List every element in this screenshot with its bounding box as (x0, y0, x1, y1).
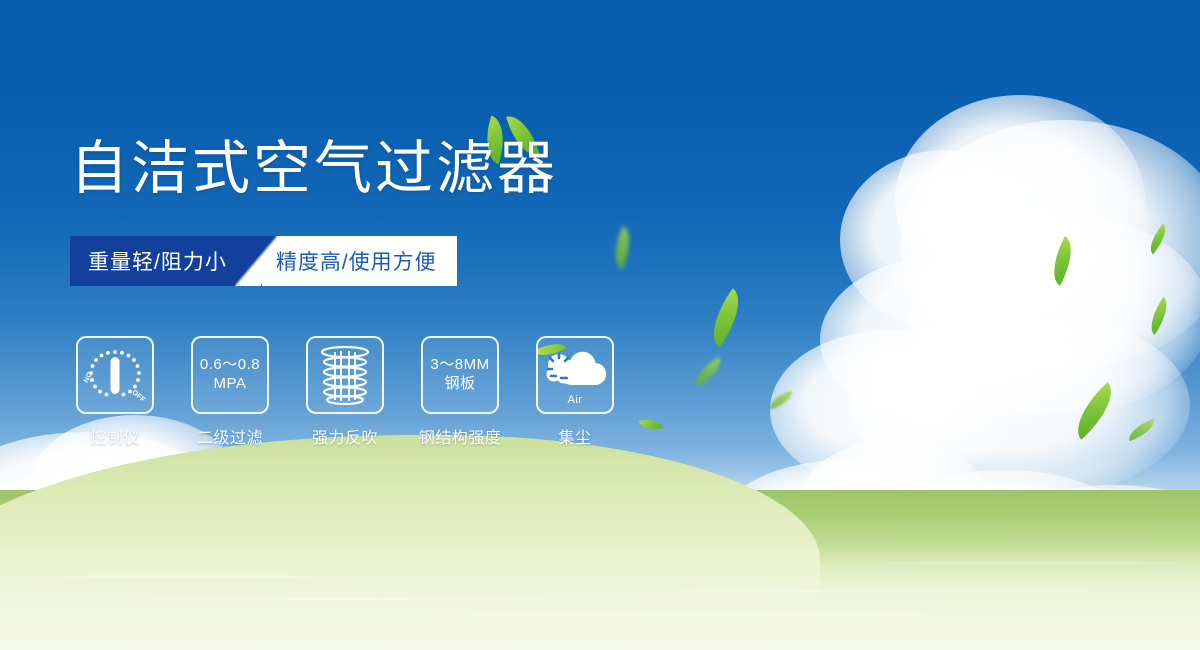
leaf-icon (639, 416, 663, 434)
cloud-shape (850, 310, 1190, 500)
tagline-left: 重量轻/阻力小 (70, 236, 253, 286)
leaf-icon (689, 357, 727, 387)
air-label: Air (543, 394, 607, 406)
feature-label: 钢结构强度 (419, 424, 502, 448)
feature-label: 强力反吹 (312, 424, 378, 448)
feature-label: 二级过滤 (197, 424, 263, 448)
cloud-shape (820, 255, 1080, 425)
gauge-switch-icon: NO OFF (82, 344, 148, 406)
cloud-shape (900, 120, 1200, 370)
grass-field (0, 490, 1200, 650)
feature-label: 控制仪 (90, 424, 140, 448)
steel-plate-icon: 3～8MM 钢板 (430, 356, 489, 394)
leaf-icon (767, 390, 795, 409)
cloud-shape (910, 215, 1200, 415)
grass-streak (880, 562, 1180, 564)
leaf-icon (1125, 419, 1158, 441)
leaf-icon (607, 226, 639, 269)
tagline-right: 精度高/使用方便 (262, 236, 457, 286)
feature-item-dust[interactable]: Air 集尘 (536, 336, 614, 448)
grass-streak (30, 576, 350, 578)
grass-streak (660, 590, 1090, 592)
leaf-icon (1043, 236, 1081, 286)
grass-streak (420, 614, 940, 616)
feature-icon-box: 3～8MM 钢板 (421, 336, 499, 414)
promo-banner: 自洁式空气过滤器 重量轻/阻力小 精度高/使用方便 (0, 0, 1200, 650)
coil-filter-icon (317, 345, 373, 405)
page-title: 自洁式空气过滤器 (70, 140, 558, 198)
grass-streak (140, 598, 560, 600)
feature-list: NO OFF 控制仪 0.6～0.8 MPA 二级过滤 (76, 336, 614, 448)
leaf-icon (1143, 297, 1175, 335)
leaf-icon (700, 288, 752, 347)
feature-item-controller[interactable]: NO OFF 控制仪 (76, 336, 154, 448)
leaf-icon (1144, 224, 1172, 255)
feature-item-blowback[interactable]: 强力反吹 (306, 336, 384, 448)
pressure-range: 0.6～0.8 (200, 356, 260, 375)
feature-label: 集尘 (558, 424, 591, 448)
feature-icon-box (306, 336, 384, 414)
feature-item-steel[interactable]: 3～8MM 钢板 钢结构强度 (421, 336, 499, 448)
feature-icon-box: 0.6～0.8 MPA (191, 336, 269, 414)
steel-thickness: 3～8MM (430, 356, 489, 375)
cloud-air-icon: Air (543, 345, 607, 405)
leaf-icon (1065, 382, 1125, 439)
cloud-shape (895, 95, 1145, 305)
feature-icon-box: Air (536, 336, 614, 414)
pressure-value-icon: 0.6～0.8 MPA (200, 356, 260, 394)
feature-item-pressure[interactable]: 0.6～0.8 MPA 二级过滤 (191, 336, 269, 448)
cloud-shape (840, 150, 1050, 330)
cloud-shape (770, 330, 1010, 490)
pressure-unit: MPA (200, 375, 260, 394)
tagline-bar: 重量轻/阻力小 精度高/使用方便 (70, 236, 457, 286)
steel-material: 钢板 (430, 375, 489, 394)
feature-icon-box: NO OFF (76, 336, 154, 414)
